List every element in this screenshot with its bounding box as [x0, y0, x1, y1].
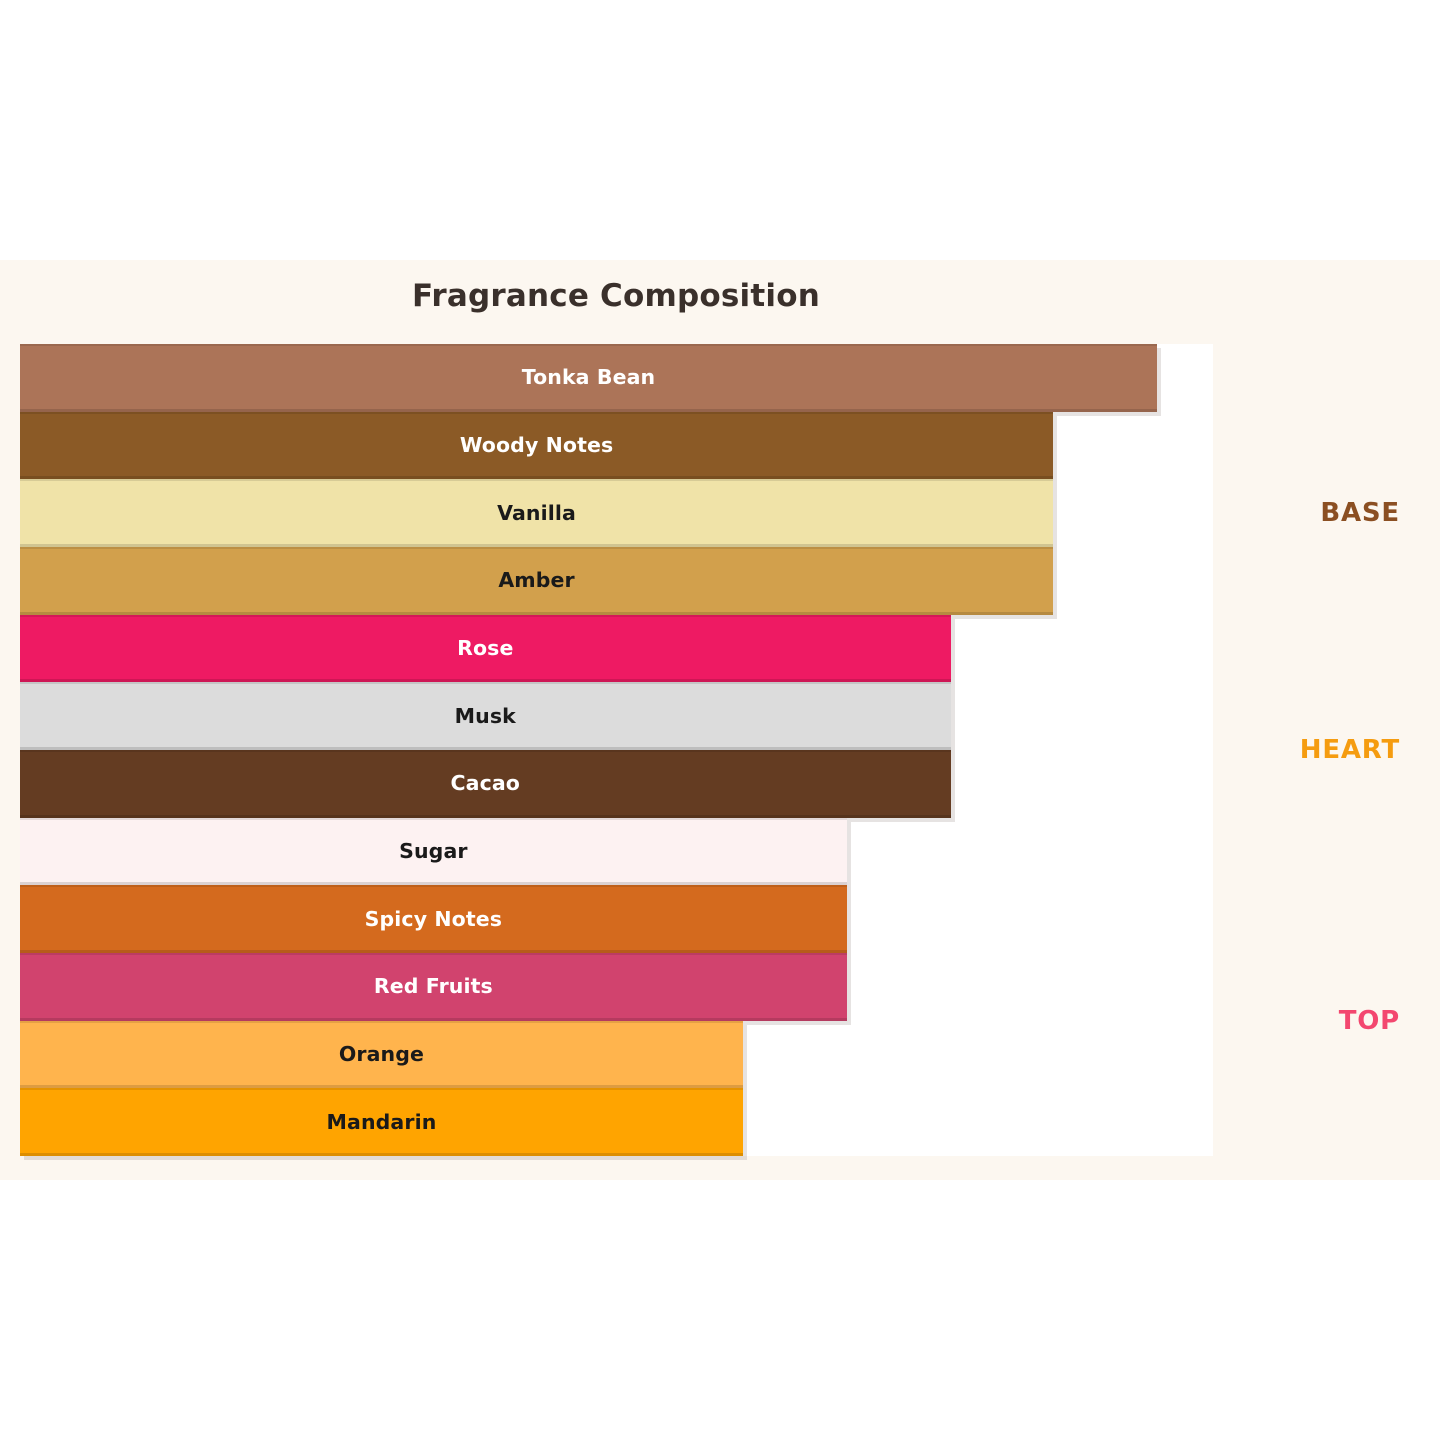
figure-background: Fragrance Composition Tonka BeanWoody No…	[0, 260, 1440, 1180]
bar-orange[interactable]: Orange	[20, 1021, 743, 1089]
plot-area: Tonka BeanWoody NotesVanillaAmberRoseMus…	[20, 344, 1213, 1156]
bar-label: Vanilla	[497, 501, 576, 525]
bar-vanilla[interactable]: Vanilla	[20, 479, 1053, 547]
bar-label: Amber	[498, 568, 574, 592]
bar-musk[interactable]: Musk	[20, 682, 951, 750]
bar-sugar[interactable]: Sugar	[20, 818, 847, 886]
bar-label: Sugar	[399, 839, 467, 863]
bar-label: Mandarin	[327, 1110, 437, 1134]
bar-label: Rose	[457, 636, 513, 660]
bar-label: Red Fruits	[374, 974, 493, 998]
bar-label: Tonka Bean	[522, 365, 656, 389]
chart-canvas: Fragrance Composition Tonka BeanWoody No…	[0, 0, 1440, 1440]
bar-cacao[interactable]: Cacao	[20, 750, 951, 818]
group-label-base: BASE	[1320, 498, 1400, 528]
page-title: Fragrance Composition	[0, 278, 1232, 314]
group-label-top: TOP	[1339, 1006, 1400, 1036]
bar-spicy-notes[interactable]: Spicy Notes	[20, 885, 847, 953]
bar-label: Cacao	[451, 771, 520, 795]
bar-label: Orange	[339, 1042, 424, 1066]
bar-amber[interactable]: Amber	[20, 547, 1053, 615]
bar-red-fruits[interactable]: Red Fruits	[20, 953, 847, 1021]
bar-woody-notes[interactable]: Woody Notes	[20, 412, 1053, 480]
group-label-heart: HEART	[1300, 735, 1400, 765]
bar-label: Musk	[455, 704, 516, 728]
bar-mandarin[interactable]: Mandarin	[20, 1088, 743, 1156]
bar-label: Spicy Notes	[365, 907, 502, 931]
bar-label: Woody Notes	[460, 433, 613, 457]
bar-rose[interactable]: Rose	[20, 615, 951, 683]
bar-tonka-bean[interactable]: Tonka Bean	[20, 344, 1157, 412]
